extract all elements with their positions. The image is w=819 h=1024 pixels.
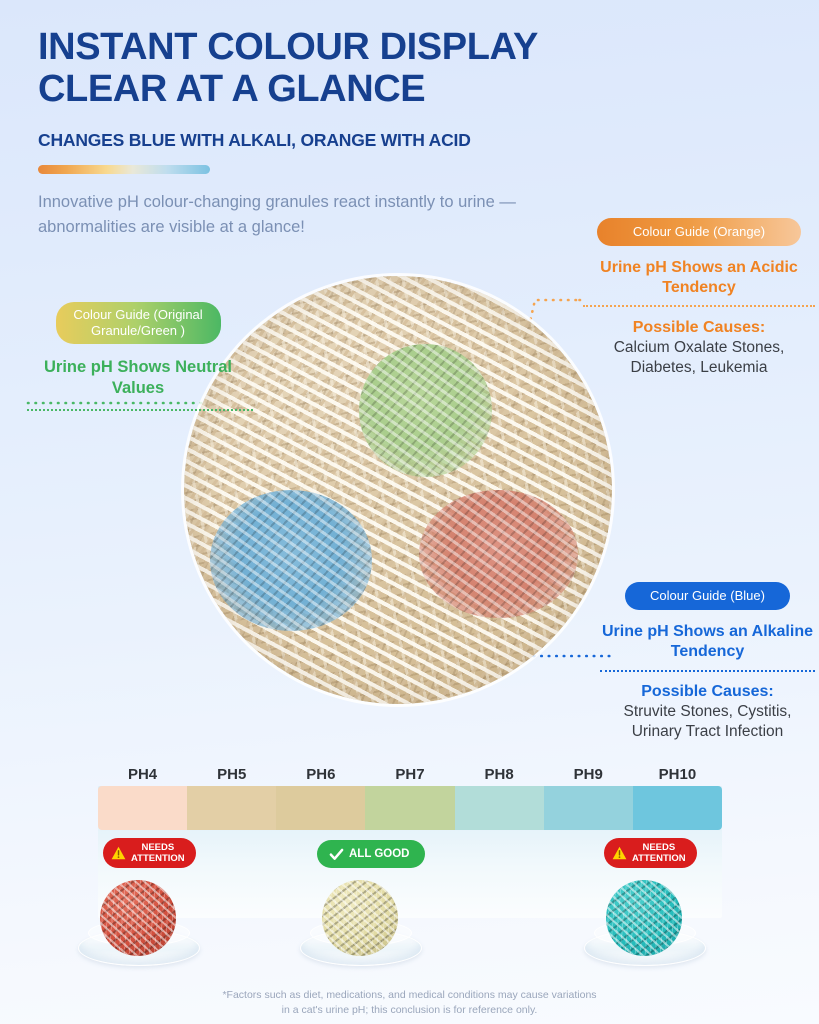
blue-granule-patch [210, 490, 373, 631]
callout-blue: Colour Guide (Blue) Urine pH Shows an Al… [600, 582, 815, 742]
callout-blue-causes: Struvite Stones, Cystitis, Urinary Tract… [600, 702, 815, 742]
callout-blue-causes-heading: Possible Causes: [600, 682, 815, 702]
ph-tick-ph9: PH9 [544, 766, 633, 783]
sample-acidic-clump [78, 880, 198, 966]
clump-pale-yellow [322, 880, 398, 956]
footnote-line-1: *Factors such as diet, medications, and … [0, 988, 819, 1003]
warning-icon [111, 846, 126, 860]
clump-teal [606, 880, 682, 956]
ph-segment-ph7 [365, 786, 454, 830]
warning-icon [612, 846, 627, 860]
badge-colour-guide-orange: Colour Guide (Orange) [597, 218, 801, 246]
status-badge-needs-attention-alkaline: NEEDS ATTENTION [604, 838, 697, 868]
title-line-2: CLEAR AT A GLANCE [38, 68, 678, 110]
blue-divider [600, 670, 815, 672]
green-granule-patch [359, 344, 492, 477]
page-subtitle: CHANGES BLUE WITH ALKALI, ORANGE WITH AC… [38, 130, 678, 151]
red-granule-patch [419, 490, 577, 618]
callout-orange-title: Urine pH Shows an Acidic Tendency [583, 258, 815, 298]
callout-blue-title: Urine pH Shows an Alkaline Tendency [600, 622, 815, 662]
intro-paragraph: Innovative pH colour-changing granules r… [38, 190, 568, 240]
ph-status-badges: NEEDS ATTENTION ALL GOOD NEEDS ATTENTION [98, 838, 722, 868]
ph-tick-ph5: PH5 [187, 766, 276, 783]
callout-green-title: Urine pH Shows Neutral Values [23, 357, 253, 399]
badge-text-neutral: ALL GOOD [349, 848, 409, 860]
badge-text-alkaline: NEEDS ATTENTION [632, 842, 686, 864]
status-badge-needs-attention-acidic: NEEDS ATTENTION [103, 838, 196, 868]
clump-red [100, 880, 176, 956]
ph-tick-ph7: PH7 [365, 766, 454, 783]
badge-colour-guide-blue: Colour Guide (Blue) [625, 582, 790, 610]
badge-text-acidic: NEEDS ATTENTION [131, 842, 185, 864]
ph-segment-ph8 [455, 786, 544, 830]
footnote-line-2: in a cat's urine pH; this conclusion is … [0, 1003, 819, 1018]
callout-orange: Colour Guide (Orange) Urine pH Shows an … [583, 218, 815, 378]
green-divider [27, 409, 253, 411]
sample-alkaline-clump [584, 880, 704, 966]
header: INSTANT COLOUR DISPLAY CLEAR AT A GLANCE… [38, 26, 678, 240]
ph-axis-labels: PH4PH5PH6PH7PH8PH9PH10 [98, 766, 722, 783]
ph-segment-ph6 [276, 786, 365, 830]
callout-orange-causes: Calcium Oxalate Stones, Diabetes, Leukem… [583, 338, 815, 378]
ph-segment-ph5 [187, 786, 276, 830]
gradient-accent-bar [38, 165, 210, 174]
callout-green: Colour Guide (Original Granule/Green ) U… [23, 302, 253, 411]
check-icon [329, 847, 344, 861]
sample-neutral-clump [300, 880, 420, 966]
ph-tick-ph4: PH4 [98, 766, 187, 783]
ph-tick-ph8: PH8 [455, 766, 544, 783]
ph-segment-ph4 [98, 786, 187, 830]
footnote: *Factors such as diet, medications, and … [0, 988, 819, 1018]
ph-segment-ph9 [544, 786, 633, 830]
ph-segment-ph10 [633, 786, 722, 830]
ph-tick-ph10: PH10 [633, 766, 722, 783]
page-title: INSTANT COLOUR DISPLAY CLEAR AT A GLANCE [38, 26, 678, 110]
orange-divider [583, 305, 815, 307]
ph-tick-ph6: PH6 [276, 766, 365, 783]
status-badge-all-good: ALL GOOD [317, 840, 425, 868]
callout-orange-causes-heading: Possible Causes: [583, 318, 815, 338]
ph-colour-bar [98, 786, 722, 830]
badge-colour-guide-green: Colour Guide (Original Granule/Green ) [56, 302, 221, 344]
infographic-page: INSTANT COLOUR DISPLAY CLEAR AT A GLANCE… [0, 0, 819, 1024]
title-line-1: INSTANT COLOUR DISPLAY [38, 26, 538, 68]
